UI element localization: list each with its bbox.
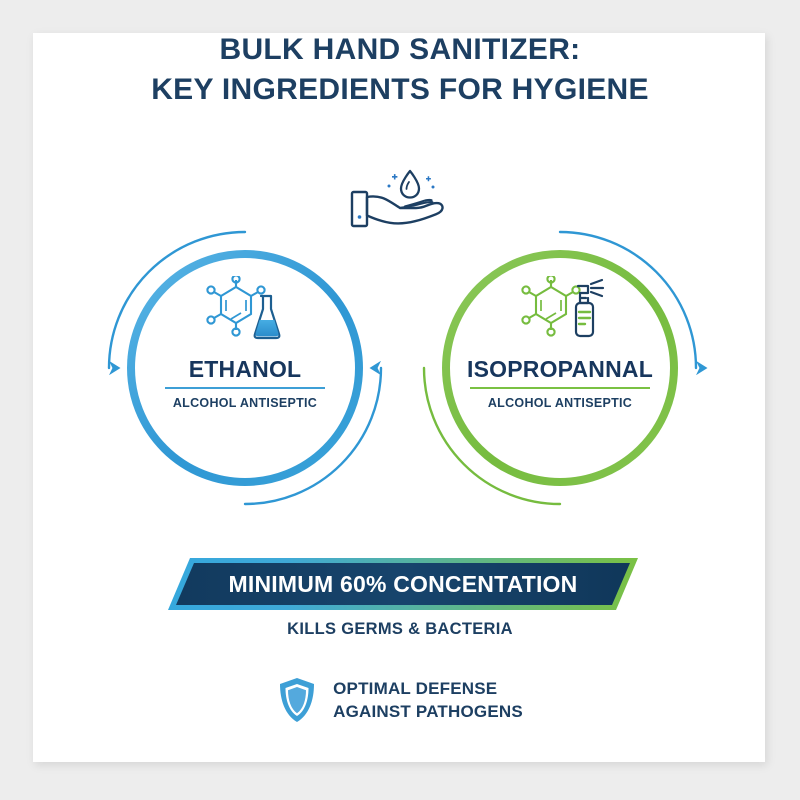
ingredient-circle-isopropannal: ISOPROPANNAL ALCOHOL ANTISEPTIC <box>410 218 710 518</box>
banner-label: MINIMUM 60% CONCENTATION <box>229 571 578 598</box>
banner-subtext: KILLS GERMS & BACTERIA <box>0 620 800 639</box>
molecule-flask-icon <box>195 276 295 342</box>
title-line-1: BULK HAND SANITIZER: <box>0 30 800 70</box>
ingredient-circle-ethanol: ETHANOL ALCOHOL ANTISEPTIC <box>95 218 395 518</box>
title-line-2: KEY INGREDIENTS FOR HYGIENE <box>0 70 800 110</box>
ingredient-name-ethanol: ETHANOL <box>189 356 302 383</box>
page-title: BULK HAND SANITIZER: KEY INGREDIENTS FOR… <box>0 30 800 110</box>
ingredient-divider <box>470 387 650 389</box>
ingredient-name-isopropannal: ISOPROPANNAL <box>467 356 653 383</box>
footer-line-1: OPTIMAL DEFENSE <box>333 677 523 700</box>
ingredient-subtitle-ethanol: ALCOHOL ANTISEPTIC <box>173 396 317 410</box>
ingredient-divider <box>165 387 325 389</box>
footer-block: OPTIMAL DEFENSE AGAINST PATHOGENS <box>0 676 800 724</box>
infographic-canvas: BULK HAND SANITIZER: KEY INGREDIENTS FOR… <box>0 0 800 800</box>
concentration-banner: MINIMUM 60% CONCENTATION <box>168 558 638 610</box>
ingredient-subtitle-isopropannal: ALCOHOL ANTISEPTIC <box>488 396 632 410</box>
footer-line-2: AGAINST PATHOGENS <box>333 700 523 723</box>
molecule-spray-bottle-icon <box>510 276 610 342</box>
shield-icon <box>277 676 317 724</box>
banner-fill: MINIMUM 60% CONCENTATION <box>176 563 630 605</box>
